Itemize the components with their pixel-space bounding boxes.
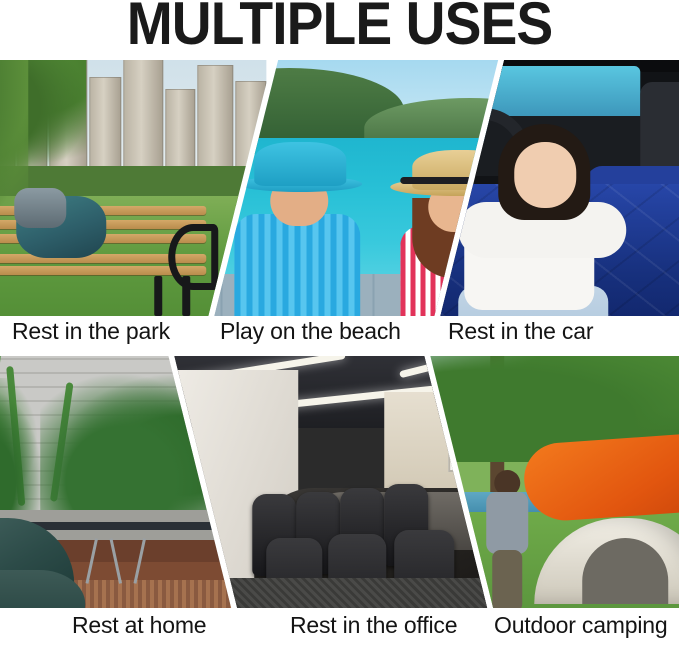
woman-figure — [458, 124, 628, 316]
caption-beach: Play on the beach — [220, 318, 401, 345]
panel-row-2 — [0, 356, 679, 608]
caption-camping: Outdoor camping — [494, 612, 667, 639]
orange-rainfly — [522, 431, 679, 523]
lounge-chair — [0, 518, 85, 608]
caption-park: Rest in the park — [12, 318, 170, 345]
caption-car: Rest in the car — [448, 318, 593, 345]
caption-office: Rest in the office — [290, 612, 457, 639]
side-stool — [86, 538, 146, 584]
caption-row-1: Rest in the park Play on the beach Rest … — [0, 318, 679, 352]
camper-left — [484, 470, 530, 608]
sleeping-bag-roll — [14, 188, 66, 228]
page-title: MULTIPLE USES — [27, 0, 652, 52]
caption-row-2: Rest at home Rest in the office Outdoor … — [0, 612, 679, 646]
man-figure — [232, 142, 362, 316]
panel-row-1 — [0, 60, 679, 316]
caption-home: Rest at home — [72, 612, 206, 639]
multiple-uses-infographic: MULTIPLE USES — [0, 0, 679, 646]
